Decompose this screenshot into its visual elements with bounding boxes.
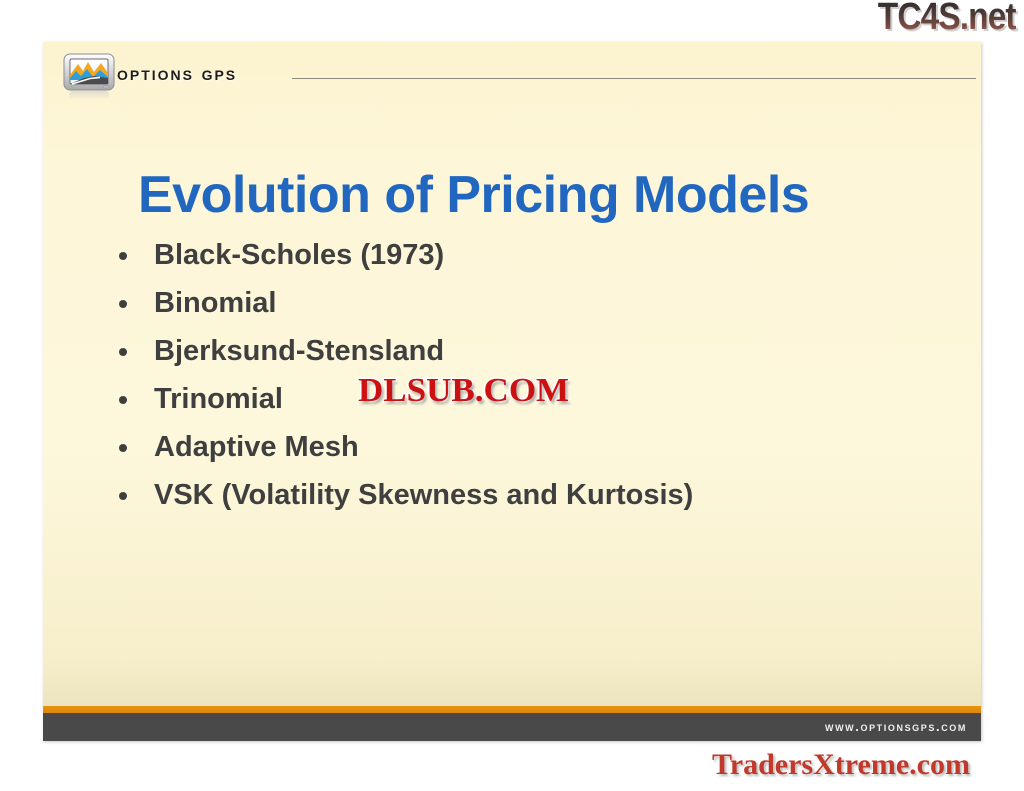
options-gps-brand-label: Options GPS <box>117 63 237 86</box>
slide-title: Evolution of Pricing Models <box>138 165 809 225</box>
list-item: Adaptive Mesh <box>111 430 961 465</box>
tradersxtreme-brand: TradersXtreme.com <box>712 748 970 782</box>
list-item-label: Adaptive Mesh <box>154 431 359 463</box>
bullet-dot-icon <box>119 444 127 452</box>
bullet-dot-icon <box>119 348 127 356</box>
bullet-dot-icon <box>119 396 127 404</box>
gps-device-icon <box>60 51 118 103</box>
list-item-label: Binomial <box>154 287 276 319</box>
header-divider <box>292 78 976 79</box>
bullet-dot-icon <box>119 252 127 260</box>
list-item: Binomial <box>111 286 961 321</box>
bullet-dot-icon <box>119 492 127 500</box>
list-item: VSK (Volatility Skewness and Kurtosis) <box>111 478 961 513</box>
footer-accent-stripe <box>43 706 981 713</box>
slide-header: Options GPS <box>43 42 981 98</box>
list-item-label: VSK (Volatility Skewness and Kurtosis) <box>154 479 693 511</box>
list-item: Black-Scholes (1973) <box>111 238 961 273</box>
list-item-label: Trinomial <box>154 383 283 415</box>
list-item-label: Black-Scholes (1973) <box>154 239 444 271</box>
footer-website-url: www.OptionsGPS.com <box>825 719 967 734</box>
list-item: Bjerksund-Stensland <box>111 334 961 369</box>
list-item-label: Bjerksund-Stensland <box>154 335 444 367</box>
presentation-slide: Options GPS Evolution of Pricing Models … <box>43 42 981 741</box>
dlsub-watermark: DLSUB.COM <box>358 372 569 410</box>
bullet-dot-icon <box>119 300 127 308</box>
tc4s-net-brand: TC4S.net <box>878 0 1016 38</box>
slide-footer-bar: www.OptionsGPS.com <box>43 713 981 741</box>
